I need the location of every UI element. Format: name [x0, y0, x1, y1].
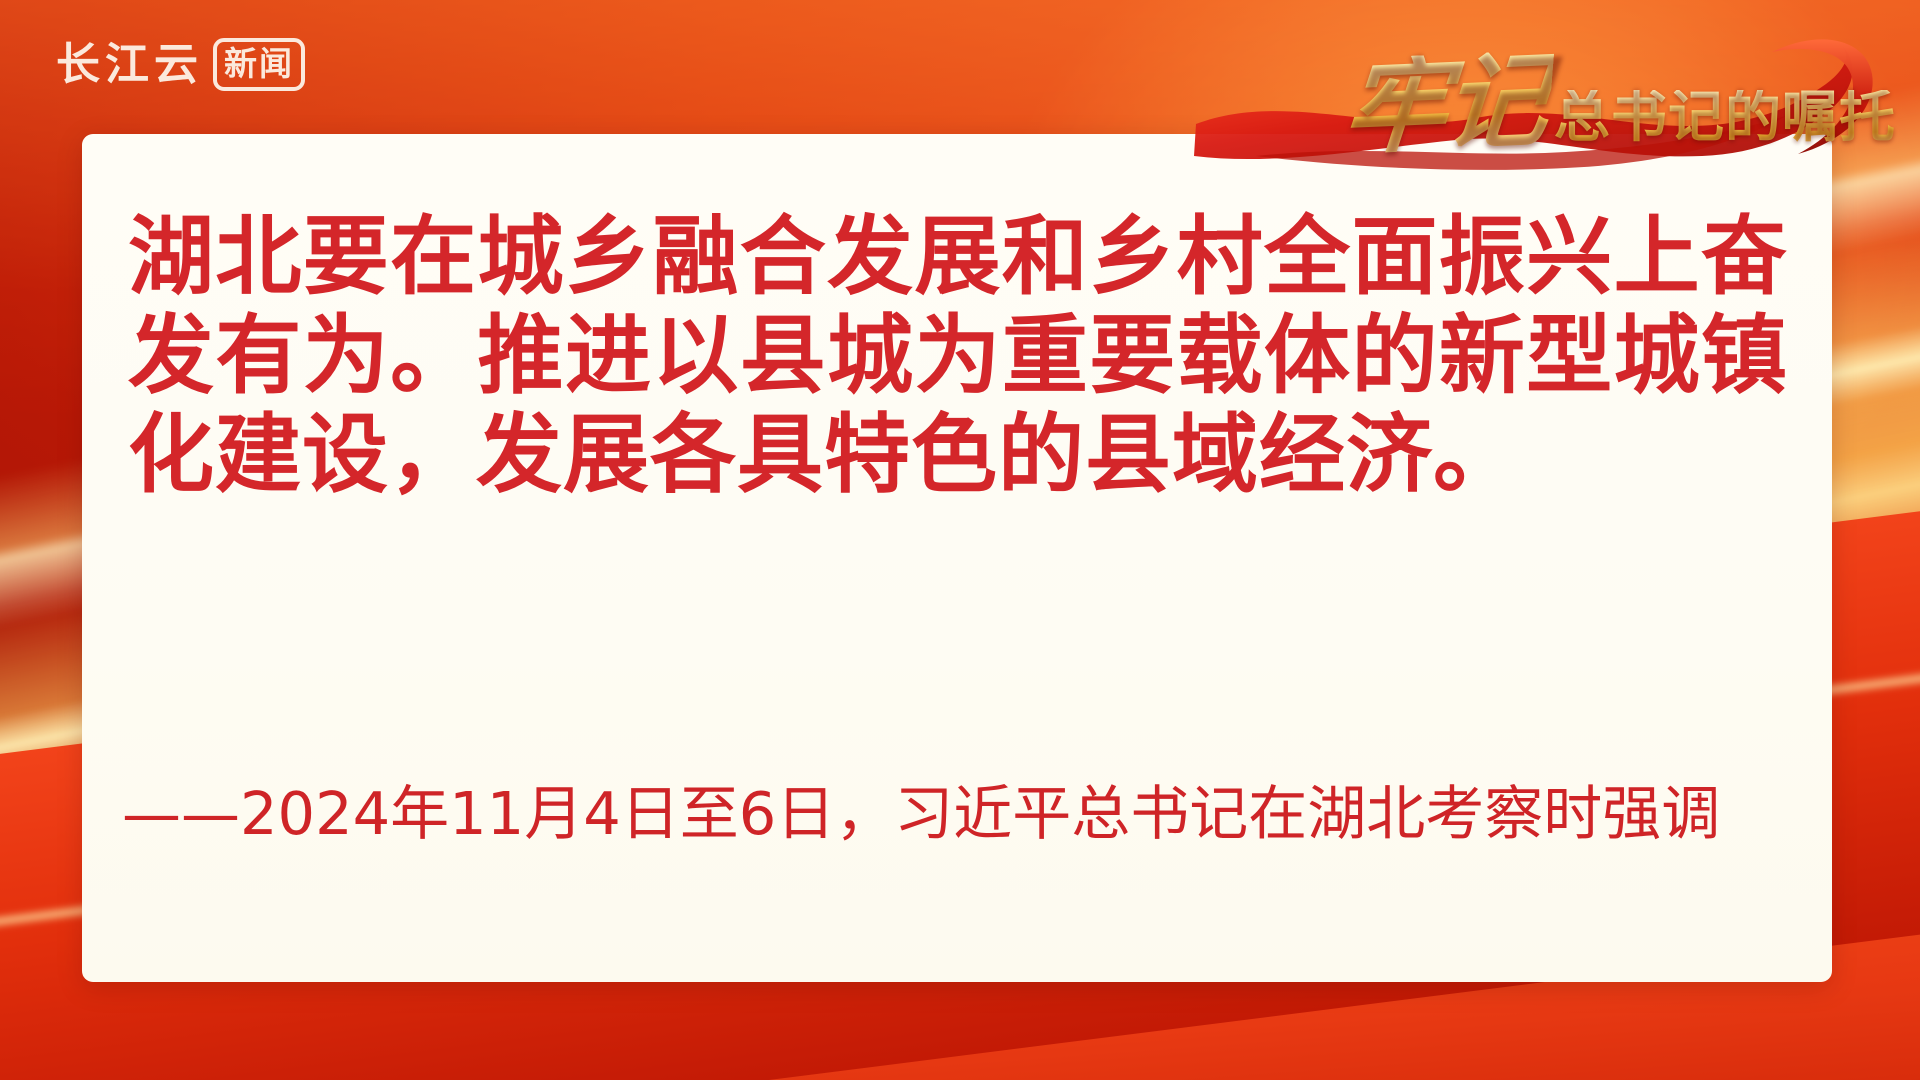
emblem-text-row: 牢记 总书记的嘱托 [1136, 24, 1896, 154]
campaign-emblem: 牢记 总书记的嘱托 [1136, 6, 1896, 186]
emblem-subtitle-text: 总书记的嘱托 [1554, 90, 1896, 154]
emblem-script-text: 牢记 [1340, 50, 1555, 159]
quote-text: 湖北要在城乡融合发展和乡村全面振兴上奋发有为。推进以县城为重要载体的新型城镇化建… [128, 208, 1788, 505]
brand-logo-badge: 新闻 [213, 38, 305, 91]
poster-canvas: 长江云 新闻 牢记 总书记的嘱托 [0, 0, 1920, 1080]
brand-logo[interactable]: 长江云 新闻 [56, 38, 305, 91]
quote-attribution: ——2024年11月4日至6日，习近平总书记在湖北考察时强调 [122, 779, 1802, 850]
brand-logo-text: 长江云 [56, 43, 203, 87]
quote-card: 湖北要在城乡融合发展和乡村全面振兴上奋发有为。推进以县城为重要载体的新型城镇化建… [82, 134, 1832, 982]
